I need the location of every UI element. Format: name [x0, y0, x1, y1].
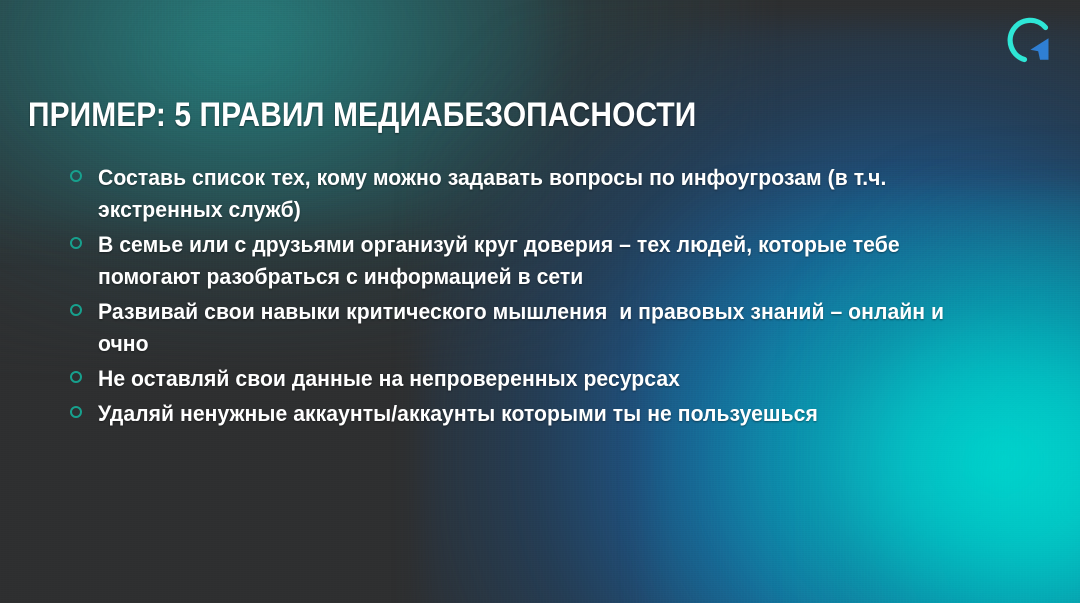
list-item-label: В семье или с друзьями организуй круг до… — [98, 229, 988, 293]
list-item: Составь список тех, кому можно задавать … — [70, 162, 1045, 226]
list-item-label: Развивай свои навыки критического мышлен… — [98, 296, 988, 360]
list-item: Не оставляй свои данные на непроверенных… — [70, 363, 1045, 395]
circle-arrow-logo-icon — [1010, 20, 1048, 59]
list-item-label: Составь список тех, кому можно задавать … — [98, 162, 988, 226]
bullet-circle-icon — [70, 371, 82, 383]
list-item: В семье или с друзьями организуй круг до… — [70, 229, 1045, 293]
rules-list: Составь список тех, кому можно задавать … — [70, 162, 1045, 433]
list-item: Удаляй ненужные аккаунты/аккаунты которы… — [70, 398, 1045, 430]
bullet-circle-icon — [70, 304, 82, 316]
bullet-circle-icon — [70, 237, 82, 249]
bullet-circle-icon — [70, 406, 82, 418]
brand-logo — [1004, 14, 1062, 72]
page-title: ПРИМЕР: 5 ПРАВИЛ МЕДИАБЕЗОПАСНОСТИ — [28, 96, 696, 134]
list-item: Развивай свои навыки критического мышлен… — [70, 296, 1045, 360]
slide: ПРИМЕР: 5 ПРАВИЛ МЕДИАБЕЗОПАСНОСТИ Соста… — [0, 0, 1080, 603]
list-item-label: Удаляй ненужные аккаунты/аккаунты которы… — [98, 398, 988, 430]
list-item-label: Не оставляй свои данные на непроверенных… — [98, 363, 988, 395]
bullet-circle-icon — [70, 170, 82, 182]
